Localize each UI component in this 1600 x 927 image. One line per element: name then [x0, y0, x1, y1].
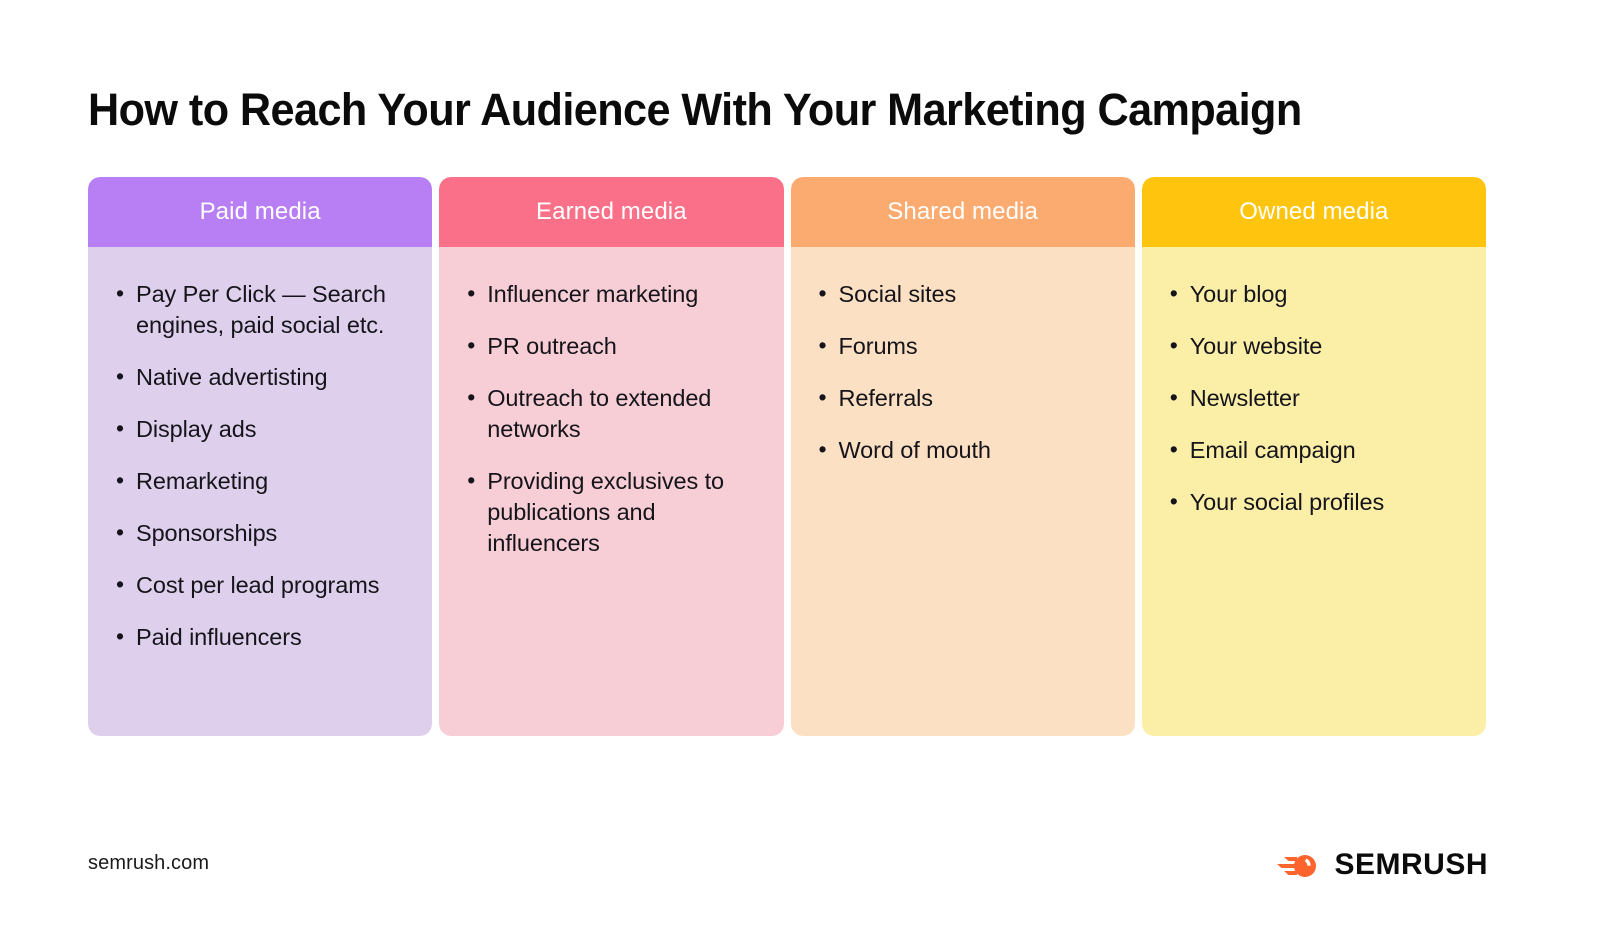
shared-media-list: Social sites Forums Referrals Word of mo…: [813, 279, 1113, 466]
column-earned-media: Earned media Influencer marketing PR out…: [439, 177, 783, 736]
paid-media-list: Pay Per Click — Search engines, paid soc…: [110, 279, 410, 653]
list-item: Providing exclusives to publications and…: [461, 466, 761, 559]
column-header-earned-media: Earned media: [439, 177, 783, 247]
column-shared-media: Shared media Social sites Forums Referra…: [791, 177, 1135, 736]
column-owned-media: Owned media Your blog Your website Newsl…: [1142, 177, 1486, 736]
list-item: Native advertisting: [110, 362, 410, 393]
source-url: semrush.com: [88, 852, 209, 875]
semrush-wordmark: SEMRUSH: [1334, 848, 1488, 882]
owned-media-list: Your blog Your website Newsletter Email …: [1164, 279, 1464, 518]
column-body-earned-media: Influencer marketing PR outreach Outreac…: [439, 247, 783, 736]
column-header-shared-media: Shared media: [791, 177, 1135, 247]
column-body-paid-media: Pay Per Click — Search engines, paid soc…: [88, 247, 432, 736]
list-item: Your website: [1164, 331, 1464, 362]
list-item: PR outreach: [461, 331, 761, 362]
list-item: Word of mouth: [813, 435, 1113, 466]
page-title: How to Reach Your Audience With Your Mar…: [88, 82, 1451, 138]
column-body-shared-media: Social sites Forums Referrals Word of mo…: [791, 247, 1135, 736]
list-item: Your blog: [1164, 279, 1464, 310]
column-header-paid-media: Paid media: [88, 177, 432, 247]
media-types-table: Paid media Pay Per Click — Search engine…: [88, 177, 1486, 736]
infographic-canvas: How to Reach Your Audience With Your Mar…: [0, 0, 1600, 927]
column-body-owned-media: Your blog Your website Newsletter Email …: [1142, 247, 1486, 736]
list-item: Display ads: [110, 414, 410, 445]
column-header-owned-media: Owned media: [1142, 177, 1486, 247]
list-item: Your social profiles: [1164, 487, 1464, 518]
list-item: Pay Per Click — Search engines, paid soc…: [110, 279, 410, 341]
list-item: Influencer marketing: [461, 279, 761, 310]
list-item: Social sites: [813, 279, 1113, 310]
list-item: Referrals: [813, 383, 1113, 414]
list-item: Newsletter: [1164, 383, 1464, 414]
list-item: Forums: [813, 331, 1113, 362]
semrush-logo: SEMRUSH: [1273, 845, 1488, 885]
list-item: Remarketing: [110, 466, 410, 497]
list-item: Cost per lead programs: [110, 570, 410, 601]
list-item: Outreach to extended networks: [461, 383, 761, 445]
list-item: Sponsorships: [110, 518, 410, 549]
list-item: Email campaign: [1164, 435, 1464, 466]
list-item: Paid influencers: [110, 622, 410, 653]
column-paid-media: Paid media Pay Per Click — Search engine…: [88, 177, 432, 736]
semrush-comet-icon: [1273, 845, 1321, 885]
earned-media-list: Influencer marketing PR outreach Outreac…: [461, 279, 761, 559]
